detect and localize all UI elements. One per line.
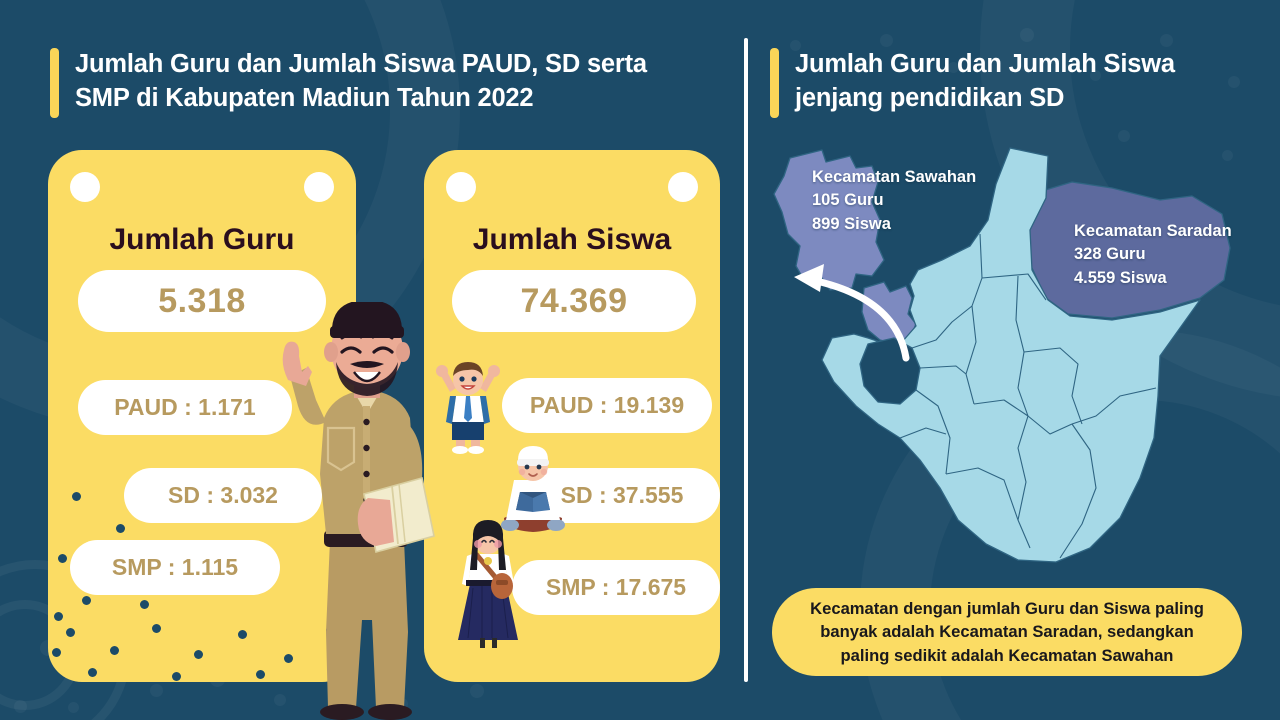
summary-note-text: Kecamatan dengan jumlah Guru dan Siswa p… [810, 597, 1204, 668]
sawahan-district-name: Kecamatan Sawahan [812, 166, 976, 189]
right-title-text: Jumlah Guru dan Jumlah Siswa jenjang pen… [795, 48, 1175, 115]
note-line-2: banyak adalah Kecamatan Saradan, sedangk… [810, 620, 1204, 644]
left-title-line-1: Jumlah Guru dan Jumlah Siswa PAUD, SD se… [75, 48, 647, 82]
sawahan-guru-count: 105 Guru [812, 189, 976, 212]
right-panel-title: Jumlah Guru dan Jumlah Siswa jenjang pen… [770, 48, 1240, 118]
stat-pill-siswa-smp: SMP : 17.675 [512, 560, 720, 615]
note-line-3: paling sedikit adalah Kecamatan Sawahan [810, 644, 1204, 668]
card-title-guru: Jumlah Guru [48, 223, 356, 257]
left-title-text: Jumlah Guru dan Jumlah Siswa PAUD, SD se… [75, 48, 647, 115]
card-punch-hole-right [668, 172, 698, 202]
map-label-sawahan: Kecamatan Sawahan 105 Guru 899 Siswa [812, 166, 976, 236]
stat-pill-guru-smp: SMP : 1.115 [70, 540, 280, 595]
saradan-guru-count: 328 Guru [1074, 243, 1232, 266]
summary-note-box: Kecamatan dengan jumlah Guru dan Siswa p… [772, 588, 1242, 676]
card-punch-hole-left [70, 172, 100, 202]
right-title-line-1: Jumlah Guru dan Jumlah Siswa [795, 48, 1175, 82]
left-title-line-2: SMP di Kabupaten Madiun Tahun 2022 [75, 82, 647, 116]
saradan-district-name: Kecamatan Saradan [1074, 220, 1232, 243]
title-accent-bar [770, 48, 779, 118]
card-total-siswa: 74.369 [452, 270, 696, 332]
stat-pill-guru-paud: PAUD : 1.171 [78, 380, 292, 435]
infographic-canvas: Jumlah Guru dan Jumlah Siswa PAUD, SD se… [0, 0, 1280, 720]
panel-divider [744, 38, 748, 682]
right-title-line-2: jenjang pendidikan SD [795, 82, 1175, 116]
left-panel-title: Jumlah Guru dan Jumlah Siswa PAUD, SD se… [50, 48, 710, 118]
stat-pill-siswa-paud: PAUD : 19.139 [502, 378, 712, 433]
card-punch-hole-right [304, 172, 334, 202]
map-region-container: Kecamatan Sawahan 105 Guru 899 Siswa Kec… [760, 138, 1260, 568]
saradan-siswa-count: 4.559 Siswa [1074, 267, 1232, 290]
teacher-illustration [272, 302, 452, 720]
card-title-siswa: Jumlah Siswa [424, 223, 720, 257]
sawahan-pointer-arrow [772, 236, 932, 366]
boy-student-illustration [430, 358, 506, 454]
card-punch-hole-left [446, 172, 476, 202]
note-line-1: Kecamatan dengan jumlah Guru dan Siswa p… [810, 597, 1204, 621]
title-accent-bar [50, 48, 59, 118]
sawahan-siswa-count: 899 Siswa [812, 213, 976, 236]
map-label-saradan: Kecamatan Saradan 328 Guru 4.559 Siswa [1074, 220, 1232, 290]
girl-student-illustration [452, 518, 524, 650]
